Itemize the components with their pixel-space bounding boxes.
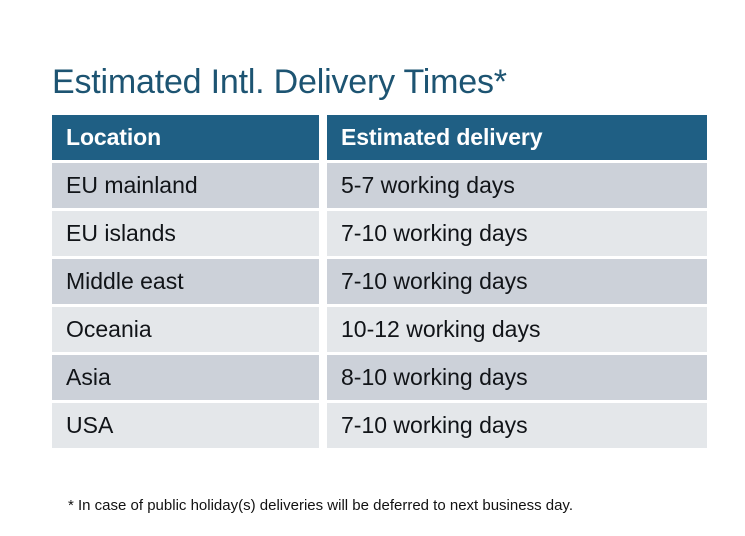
cell-estimated-delivery: 7-10 working days xyxy=(327,259,707,304)
delivery-times-panel: Estimated Intl. Delivery Times* Location… xyxy=(0,0,745,536)
table-header-row: Location Estimated delivery xyxy=(52,115,707,160)
cell-location: USA xyxy=(52,403,319,448)
column-header-estimated-delivery: Estimated delivery xyxy=(327,115,707,160)
table-body: EU mainland 5-7 working days EU islands … xyxy=(52,163,707,448)
cell-estimated-delivery: 7-10 working days xyxy=(327,403,707,448)
cell-estimated-delivery: 7-10 working days xyxy=(327,211,707,256)
cell-location: Asia xyxy=(52,355,319,400)
cell-location: EU islands xyxy=(52,211,319,256)
cell-estimated-delivery: 5-7 working days xyxy=(327,163,707,208)
footnote-text: * In case of public holiday(s) deliverie… xyxy=(68,496,573,516)
table-row: USA 7-10 working days xyxy=(52,403,707,448)
column-header-location: Location xyxy=(52,115,319,160)
table-header: Location Estimated delivery xyxy=(52,115,707,160)
cell-location: EU mainland xyxy=(52,163,319,208)
table-row: EU mainland 5-7 working days xyxy=(52,163,707,208)
cell-location: Oceania xyxy=(52,307,319,352)
page-title: Estimated Intl. Delivery Times* xyxy=(52,61,507,103)
table-row: Middle east 7-10 working days xyxy=(52,259,707,304)
table-row: Asia 8-10 working days xyxy=(52,355,707,400)
delivery-times-table: Location Estimated delivery EU mainland … xyxy=(44,112,715,451)
cell-location: Middle east xyxy=(52,259,319,304)
cell-estimated-delivery: 8-10 working days xyxy=(327,355,707,400)
table-row: Oceania 10-12 working days xyxy=(52,307,707,352)
table-row: EU islands 7-10 working days xyxy=(52,211,707,256)
cell-estimated-delivery: 10-12 working days xyxy=(327,307,707,352)
